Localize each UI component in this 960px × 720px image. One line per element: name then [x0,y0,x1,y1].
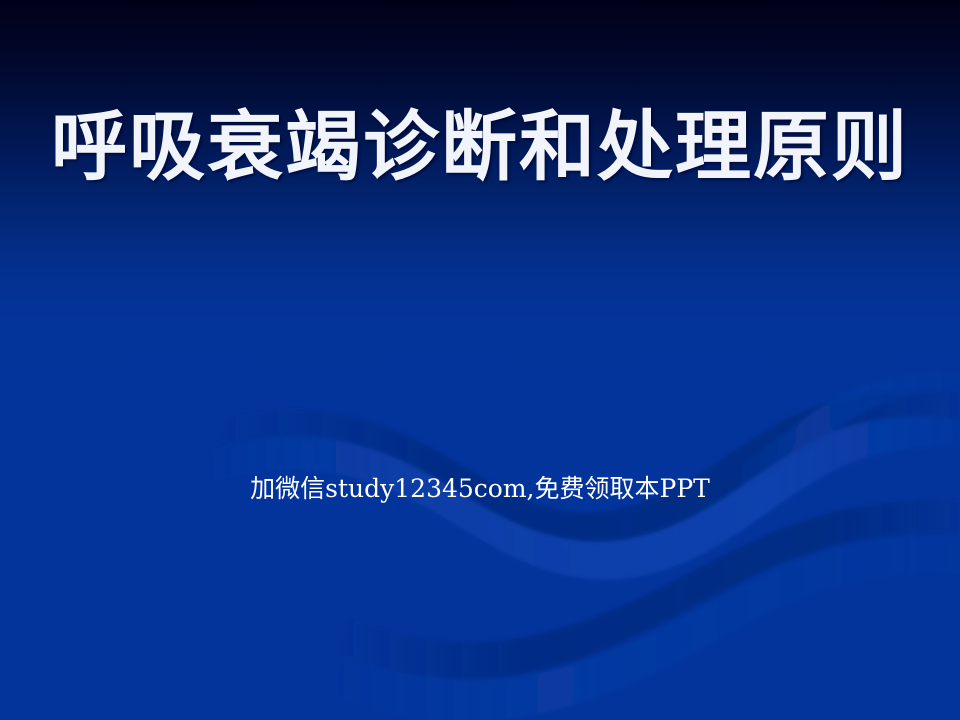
swirl-band-3 [336,499,960,679]
presentation-slide: 呼吸衰竭诊断和处理原则 加微信study12345com,免费领取本PPT [0,0,960,720]
subtitle-block: 加微信study12345com,免费领取本PPT [0,474,960,504]
swirl-band-4 [330,535,960,720]
slide-subtitle: 加微信study12345com,免费领取本PPT [250,474,710,504]
title-block: 呼吸衰竭诊断和处理原则 [0,106,960,190]
page-title: 呼吸衰竭诊断和处理原则 [51,106,909,190]
swirl-band-1 [214,391,960,544]
